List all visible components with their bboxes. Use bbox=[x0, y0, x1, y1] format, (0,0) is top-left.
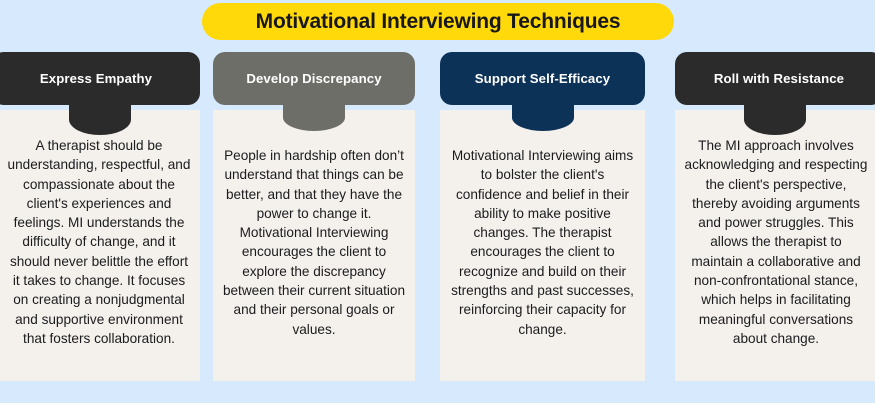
technique-column-express-empathy: Express Empathy A therapist should be un… bbox=[0, 52, 200, 382]
header-tab-shape-2 bbox=[283, 104, 345, 131]
infographic-page: { "title": "Motivational Interviewing Te… bbox=[0, 0, 875, 403]
technique-header-1[interactable]: Express Empathy bbox=[0, 52, 200, 105]
technique-columns: Express Empathy A therapist should be un… bbox=[0, 52, 875, 382]
technique-body-1: A therapist should be understanding, res… bbox=[7, 136, 191, 348]
technique-column-develop-discrepancy: Develop Discrepancy People in hardship o… bbox=[213, 52, 415, 382]
header-tab-shape-1 bbox=[69, 104, 131, 135]
page-title: Motivational Interviewing Techniques bbox=[256, 10, 621, 34]
technique-column-roll-with-resistance: Roll with Resistance The MI approach inv… bbox=[675, 52, 875, 382]
technique-body-3: Motivational Interviewing aims to bolste… bbox=[449, 146, 636, 339]
technique-body-2: People in hardship often don’t understan… bbox=[222, 146, 406, 339]
technique-header-label-4: Roll with Resistance bbox=[714, 71, 844, 86]
technique-header-2[interactable]: Develop Discrepancy bbox=[213, 52, 415, 105]
technique-header-4[interactable]: Roll with Resistance bbox=[675, 52, 875, 105]
technique-body-4: The MI approach involves acknowledging a… bbox=[684, 136, 868, 348]
technique-column-support-self-efficacy: Support Self-Efficacy Motivational Inter… bbox=[440, 52, 645, 382]
technique-card-4: The MI approach involves acknowledging a… bbox=[675, 110, 875, 381]
page-title-pill: Motivational Interviewing Techniques bbox=[202, 3, 674, 40]
technique-header-label-2: Develop Discrepancy bbox=[246, 71, 381, 86]
technique-header-label-1: Express Empathy bbox=[40, 71, 152, 86]
technique-header-3[interactable]: Support Self-Efficacy bbox=[440, 52, 645, 105]
technique-card-3: Motivational Interviewing aims to bolste… bbox=[440, 110, 645, 381]
technique-card-1: A therapist should be understanding, res… bbox=[0, 110, 200, 381]
header-tab-shape-3 bbox=[512, 104, 574, 131]
technique-header-label-3: Support Self-Efficacy bbox=[475, 71, 610, 86]
header-tab-shape-4 bbox=[744, 104, 806, 135]
technique-card-2: People in hardship often don’t understan… bbox=[213, 110, 415, 381]
